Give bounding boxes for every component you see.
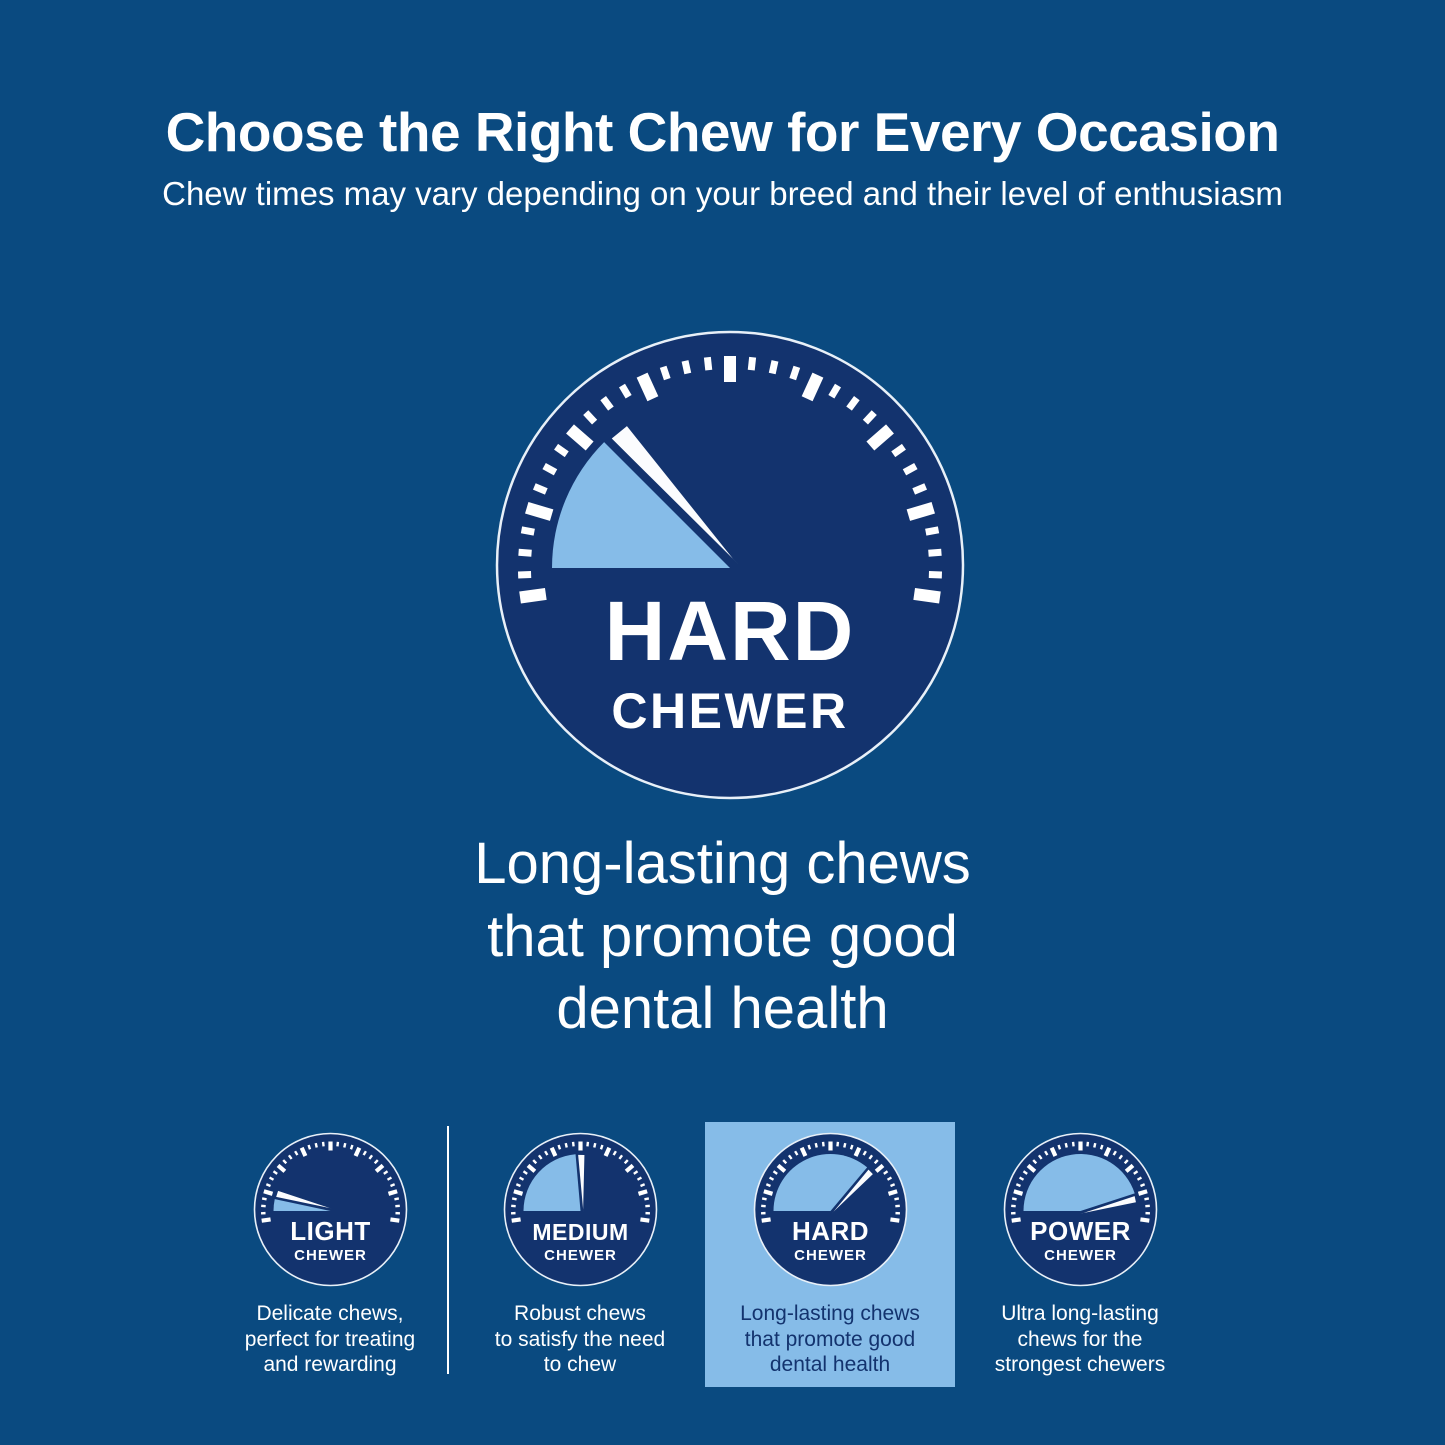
caption-line-3: and rewarding xyxy=(245,1352,415,1378)
level-badge-medium: MEDIUMCHEWER xyxy=(503,1132,658,1287)
level-card-power[interactable]: POWERCHEWERUltra long-lastingchews for t… xyxy=(955,1122,1205,1387)
level-name: HARD xyxy=(791,1216,868,1246)
gauge-icon: MEDIUMCHEWER xyxy=(503,1132,658,1287)
caption-line-2: to satisfy the need xyxy=(495,1327,665,1353)
level-card-hard[interactable]: HARDCHEWERLong-lasting chewsthat promote… xyxy=(705,1122,955,1387)
gauge-icon: LIGHTCHEWER xyxy=(253,1132,408,1287)
caption-line-3: dental health xyxy=(740,1352,920,1378)
level-sub: CHEWER xyxy=(1044,1247,1117,1264)
caption-line-1: Robust chews xyxy=(495,1301,665,1327)
level-caption-light: Delicate chews,perfect for treatingand r… xyxy=(239,1301,421,1378)
level-sub: CHEWER xyxy=(794,1247,867,1264)
level-badge-hard: HARDCHEWER xyxy=(753,1132,908,1287)
header: Choose the Right Chew for Every Occasion… xyxy=(0,104,1445,212)
caption-line-3: to chew xyxy=(495,1352,665,1378)
hero-level-sub: CHEWER xyxy=(611,683,848,739)
level-name: POWER xyxy=(1030,1216,1131,1246)
hero-level-name: HARD xyxy=(605,584,856,678)
level-sub: CHEWER xyxy=(544,1247,617,1264)
page-title: Choose the Right Chew for Every Occasion xyxy=(0,104,1445,162)
page-subtitle: Chew times may vary depending on your br… xyxy=(0,176,1445,212)
hero-tagline-line-2: that promote good xyxy=(0,901,1445,974)
caption-line-1: Long-lasting chews xyxy=(740,1301,920,1327)
level-card-medium[interactable]: MEDIUMCHEWERRobust chewsto satisfy the n… xyxy=(455,1122,705,1387)
caption-line-3: strongest chewers xyxy=(995,1352,1165,1378)
level-name: MEDIUM xyxy=(532,1219,628,1245)
level-sub: CHEWER xyxy=(294,1247,367,1264)
hero-chewer-badge: HARD CHEWER xyxy=(495,330,965,800)
gauge-icon: HARDCHEWER xyxy=(753,1132,908,1287)
caption-line-1: Delicate chews, xyxy=(245,1301,415,1327)
card-divider xyxy=(447,1126,449,1374)
level-card-light[interactable]: LIGHTCHEWERDelicate chews,perfect for tr… xyxy=(205,1122,455,1387)
level-badge-power: POWERCHEWER xyxy=(1003,1132,1158,1287)
level-caption-medium: Robust chewsto satisfy the needto chew xyxy=(489,1301,671,1378)
gauge-icon: HARD CHEWER xyxy=(495,330,965,800)
caption-line-2: chews for the xyxy=(995,1327,1165,1353)
caption-line-2: perfect for treating xyxy=(245,1327,415,1353)
caption-line-1: Ultra long-lasting xyxy=(995,1301,1165,1327)
level-name: LIGHT xyxy=(290,1216,371,1246)
caption-line-2: that promote good xyxy=(740,1327,920,1353)
level-badge-light: LIGHTCHEWER xyxy=(253,1132,408,1287)
level-caption-power: Ultra long-lastingchews for thestrongest… xyxy=(989,1301,1171,1378)
chewer-levels-row: LIGHTCHEWERDelicate chews,perfect for tr… xyxy=(205,1122,1245,1387)
hero-tagline: Long-lasting chews that promote good den… xyxy=(0,828,1445,1046)
gauge-icon: POWERCHEWER xyxy=(1003,1132,1158,1287)
hero-tagline-line-1: Long-lasting chews xyxy=(0,828,1445,901)
hero-tagline-line-3: dental health xyxy=(0,973,1445,1046)
level-caption-hard: Long-lasting chewsthat promote gooddenta… xyxy=(734,1301,926,1378)
